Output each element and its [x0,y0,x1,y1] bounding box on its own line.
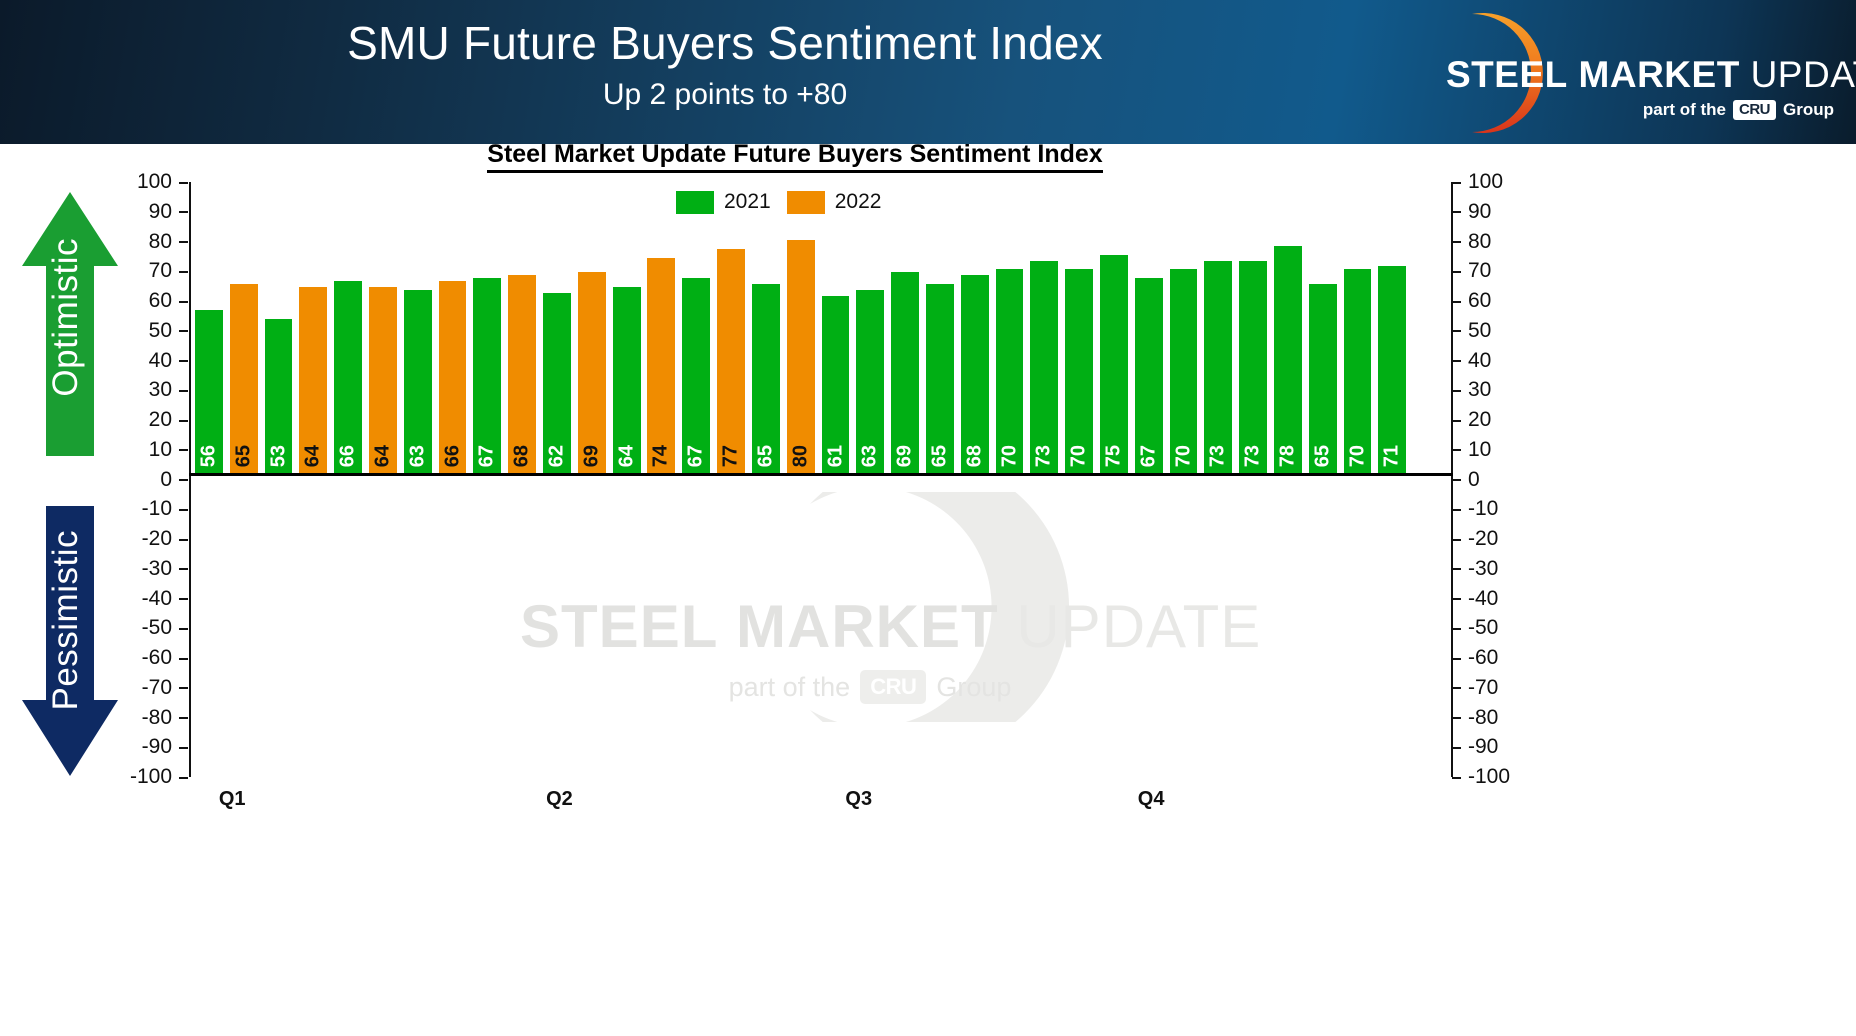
bar-value-label: 73 [1239,445,1267,467]
bar-value-label: 65 [926,445,954,467]
bar-2021-27[interactable]: 75 [1100,255,1128,473]
tick-mark [1452,449,1461,451]
bar-2022-14[interactable]: 74 [647,258,675,473]
bar-value-label: 73 [1030,445,1058,467]
pessimistic-arrow: Pessimistic [20,502,120,780]
y-tick--10: -10 [1452,498,1512,519]
sentiment-arrows: Optimistic Pessimistic [20,188,130,780]
y-tick-70: 70 [128,260,188,281]
y-tick--10: -10 [128,498,188,519]
tick-mark [1452,568,1461,570]
tick-mark [1452,479,1461,481]
bar-value-label: 71 [1378,445,1406,467]
y-tick-70: 70 [1452,260,1512,281]
tick-mark [1452,658,1461,660]
tick-mark [1452,271,1461,273]
y-tick-10: 10 [128,439,188,460]
tick-mark [179,628,188,630]
tick-mark [1452,360,1461,362]
bar-2021-29[interactable]: 70 [1170,269,1198,473]
bar-value-label: 65 [1309,445,1337,467]
y-tick--20: -20 [128,528,188,549]
tick-mark [179,479,188,481]
bar-2021-26[interactable]: 70 [1065,269,1093,473]
watermark-crescent-icon [670,492,1070,722]
bar-2021-28[interactable]: 67 [1135,278,1163,473]
y-tick-90: 90 [128,201,188,222]
bar-2021-32[interactable]: 78 [1274,246,1302,473]
bar-2022-2[interactable]: 65 [230,284,258,473]
bar-2021-3[interactable]: 53 [265,319,293,473]
tick-mark [179,211,188,213]
watermark-word-update: UPDATE [1016,593,1261,660]
tick-mark [179,360,188,362]
bar-value-label: 70 [1065,445,1093,467]
y-tick-60: 60 [1452,290,1512,311]
tick-mark [179,420,188,422]
y-tick--50: -50 [1452,617,1512,638]
bar-value-label: 70 [1170,445,1198,467]
bar-2022-16[interactable]: 77 [717,249,745,473]
bar-value-label: 53 [265,445,293,467]
y-tick-60: 60 [128,290,188,311]
tick-mark [1452,211,1461,213]
tick-mark [179,658,188,660]
tick-mark [179,509,188,511]
bar-value-label: 64 [369,445,397,467]
optimistic-arrow: Optimistic [20,188,120,458]
logo-word-steel: STEEL [1446,54,1568,95]
quarter-label-Q4: Q4 [1138,788,1165,811]
y-tick--40: -40 [128,588,188,609]
y-tick--30: -30 [1452,558,1512,579]
tick-mark [179,390,188,392]
y-tick--100: -100 [128,766,188,787]
watermark-wordmark: STEEL MARKET UPDATE [520,592,1220,661]
axis-spine-right [1451,182,1453,777]
y-tick-50: 50 [128,320,188,341]
y-tick--90: -90 [128,736,188,757]
tick-mark [179,687,188,689]
chart-title: Steel Market Update Future Buyers Sentim… [140,140,1450,169]
tick-mark [1452,241,1461,243]
tick-mark [179,241,188,243]
tick-mark [1452,747,1461,749]
bar-value-label: 73 [1204,445,1232,467]
bar-2021-17[interactable]: 65 [752,284,780,473]
bar-value-label: 64 [299,445,327,467]
tick-mark [179,539,188,541]
bar-2021-9[interactable]: 67 [473,278,501,473]
tick-mark [1452,182,1461,184]
tick-mark [1452,330,1461,332]
page-subtitle: Up 2 points to +80 [0,78,1450,112]
bar-2021-30[interactable]: 73 [1204,261,1232,473]
tick-mark [1452,539,1461,541]
tick-mark [179,777,188,779]
logo-word-update: UPDATE [1751,54,1856,95]
pessimistic-label: Pessimistic [46,530,86,711]
bar-2021-5[interactable]: 66 [334,281,362,473]
watermark-group: Group [936,672,1011,703]
bar-2021-31[interactable]: 73 [1239,261,1267,473]
tick-mark [1452,717,1461,719]
y-tick-20: 20 [128,409,188,430]
y-tick--70: -70 [128,677,188,698]
bar-2021-21[interactable]: 69 [891,272,919,473]
y-tick--70: -70 [1452,677,1512,698]
logo-wordmark: STEEL MARKET UPDATE [1446,54,1856,96]
watermark-word-market: MARKET [736,593,999,660]
bar-value-label: 65 [752,445,780,467]
bar-2022-4[interactable]: 64 [299,287,327,473]
logo-cru-line: part of the CRU Group [1643,100,1834,120]
bar-2021-15[interactable]: 67 [682,278,710,473]
bar-value-label: 66 [439,445,467,467]
tick-mark [1452,420,1461,422]
bar-2021-24[interactable]: 70 [996,269,1024,473]
y-tick-30: 30 [1452,379,1512,400]
logo-word-market: MARKET [1579,54,1740,95]
bar-value-label: 65 [230,445,258,467]
y-tick-0: 0 [128,469,188,490]
tick-mark [1452,777,1461,779]
watermark-part-of-the: part of the [729,672,851,703]
bar-2021-13[interactable]: 64 [613,287,641,473]
tick-mark [1452,687,1461,689]
bar-2021-33[interactable]: 65 [1309,284,1337,473]
x-axis-quarter-labels: Q1Q2Q3Q4 [190,788,1452,818]
y-tick--80: -80 [128,707,188,728]
y-tick-80: 80 [1452,231,1512,252]
bar-value-label: 61 [822,445,850,467]
bar-value-label: 68 [961,445,989,467]
bar-value-label: 67 [682,445,710,467]
bar-value-label: 67 [1135,445,1163,467]
smu-logo: STEEL MARKET UPDATE part of the CRU Grou… [1418,4,1838,140]
tick-mark [1452,598,1461,600]
tick-mark [179,598,188,600]
chart-title-text: Steel Market Update Future Buyers Sentim… [487,140,1102,173]
page-title: SMU Future Buyers Sentiment Index [0,16,1450,70]
bar-value-label: 78 [1274,445,1302,467]
bar-2021-20[interactable]: 63 [856,290,884,473]
y-tick--50: -50 [128,617,188,638]
y-tick-50: 50 [1452,320,1512,341]
y-tick--100: -100 [1452,766,1512,787]
y-axis-left: 1009080706050403020100-10-20-30-40-50-60… [128,182,188,777]
bar-2022-6[interactable]: 64 [369,287,397,473]
watermark-word-steel: STEEL [520,593,718,660]
bar-value-label: 67 [473,445,501,467]
tick-mark [179,330,188,332]
tick-mark [1452,509,1461,511]
optimistic-label: Optimistic [46,238,86,397]
watermark-cru-line: part of the CRU Group [520,670,1220,704]
bar-value-label: 80 [787,445,815,467]
logo-part-of-the: part of the [1643,100,1726,120]
bar-2021-35[interactable]: 71 [1378,266,1406,473]
y-tick-30: 30 [128,379,188,400]
y-tick-0: 0 [1452,469,1512,490]
bar-2021-1[interactable]: 56 [195,310,223,473]
bar-value-label: 70 [996,445,1024,467]
tick-mark [179,568,188,570]
bar-value-label: 75 [1100,445,1128,467]
tick-mark [1452,390,1461,392]
bar-value-label: 74 [647,445,675,467]
bar-2021-22[interactable]: 65 [926,284,954,473]
bar-2022-12[interactable]: 69 [578,272,606,473]
bar-value-label: 68 [508,445,536,467]
bar-value-label: 69 [578,445,606,467]
bar-2021-25[interactable]: 73 [1030,261,1058,473]
header-banner: SMU Future Buyers Sentiment Index Up 2 p… [0,0,1856,144]
tick-mark [1452,628,1461,630]
y-tick-80: 80 [128,231,188,252]
bar-value-label: 64 [613,445,641,467]
y-tick--60: -60 [128,647,188,668]
bar-value-label: 63 [404,445,432,467]
logo-group: Group [1783,100,1834,120]
bar-value-label: 70 [1344,445,1372,467]
y-tick--40: -40 [1452,588,1512,609]
bar-2021-34[interactable]: 70 [1344,269,1372,473]
y-tick-90: 90 [1452,201,1512,222]
bars-container: 5665536466646366676862696474677765806163… [191,182,1451,473]
bar-2021-11[interactable]: 62 [543,293,571,473]
bar-2022-8[interactable]: 66 [439,281,467,473]
quarter-label-Q2: Q2 [546,788,573,811]
watermark-cru-badge: CRU [860,670,926,704]
y-tick--20: -20 [1452,528,1512,549]
bar-2022-10[interactable]: 68 [508,275,536,473]
tick-mark [179,301,188,303]
y-tick-20: 20 [1452,409,1512,430]
y-tick-40: 40 [128,350,188,371]
cru-badge: CRU [1733,100,1776,120]
tick-mark [179,449,188,451]
bar-value-label: 66 [334,445,362,467]
y-tick-100: 100 [1452,171,1512,192]
bar-value-label: 63 [856,445,884,467]
tick-mark [179,717,188,719]
y-axis-right: 1009080706050403020100-10-20-30-40-50-60… [1452,182,1512,777]
watermark: STEEL MARKET UPDATE part of the CRU Grou… [520,530,1220,760]
bar-value-label: 62 [543,445,571,467]
y-tick--30: -30 [128,558,188,579]
quarter-label-Q1: Q1 [219,788,246,811]
bar-2021-23[interactable]: 68 [961,275,989,473]
tick-mark [1452,301,1461,303]
tick-mark [179,182,188,184]
bar-2021-19[interactable]: 61 [822,296,850,474]
y-tick--60: -60 [1452,647,1512,668]
bar-value-label: 77 [717,445,745,467]
bar-value-label: 56 [195,445,223,467]
quarter-label-Q3: Q3 [845,788,872,811]
bar-2021-7[interactable]: 63 [404,290,432,473]
y-tick-100: 100 [128,171,188,192]
y-tick--80: -80 [1452,707,1512,728]
y-tick-10: 10 [1452,439,1512,460]
bar-2022-18[interactable]: 80 [787,240,815,473]
tick-mark [179,747,188,749]
zero-axis-line [189,473,1453,476]
tick-mark [179,271,188,273]
bar-value-label: 69 [891,445,919,467]
y-tick--90: -90 [1452,736,1512,757]
y-tick-40: 40 [1452,350,1512,371]
